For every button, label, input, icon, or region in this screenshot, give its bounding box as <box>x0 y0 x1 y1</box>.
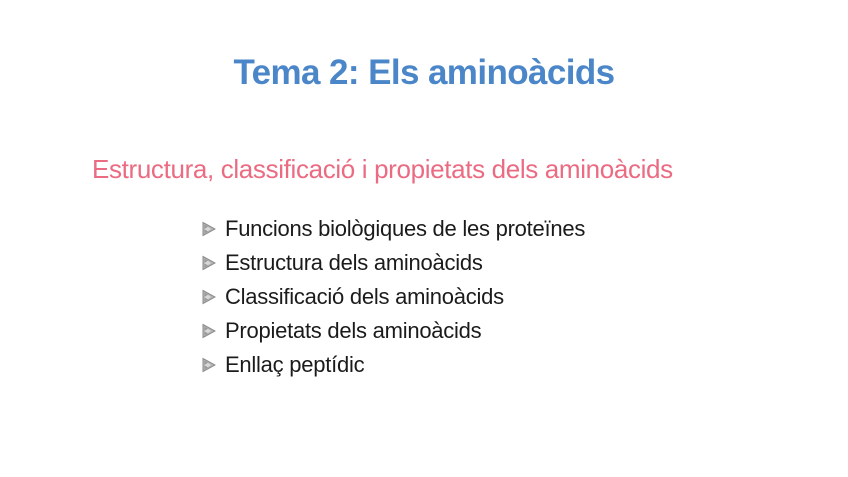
list-item-label: Funcions biològiques de les proteïnes <box>225 215 585 243</box>
triangle-right-icon <box>202 358 216 373</box>
triangle-right-icon <box>202 222 216 237</box>
list-item-label: Classificació dels aminoàcids <box>225 283 504 311</box>
triangle-right-icon <box>202 256 216 271</box>
page-title: Tema 2: Els aminoàcids <box>0 53 848 93</box>
list-item-label: Estructura dels aminoàcids <box>225 249 483 277</box>
outline-bullet-list: Funcions biològiques de les proteïnes Es… <box>200 212 800 382</box>
list-item-label: Enllaç peptídic <box>225 351 364 379</box>
list-item: Classificació dels aminoàcids <box>200 280 800 314</box>
list-item: Enllaç peptídic <box>200 348 800 382</box>
list-item: Funcions biològiques de les proteïnes <box>200 212 800 246</box>
slide-subtitle: Estructura, classificació i propietats d… <box>92 154 792 185</box>
presentation-slide: Tema 2: Els aminoàcids Estructura, class… <box>0 0 848 477</box>
list-item: Propietats dels aminoàcids <box>200 314 800 348</box>
triangle-right-icon <box>202 324 216 339</box>
list-item: Estructura dels aminoàcids <box>200 246 800 280</box>
list-item-label: Propietats dels aminoàcids <box>225 317 481 345</box>
triangle-right-icon <box>202 290 216 305</box>
